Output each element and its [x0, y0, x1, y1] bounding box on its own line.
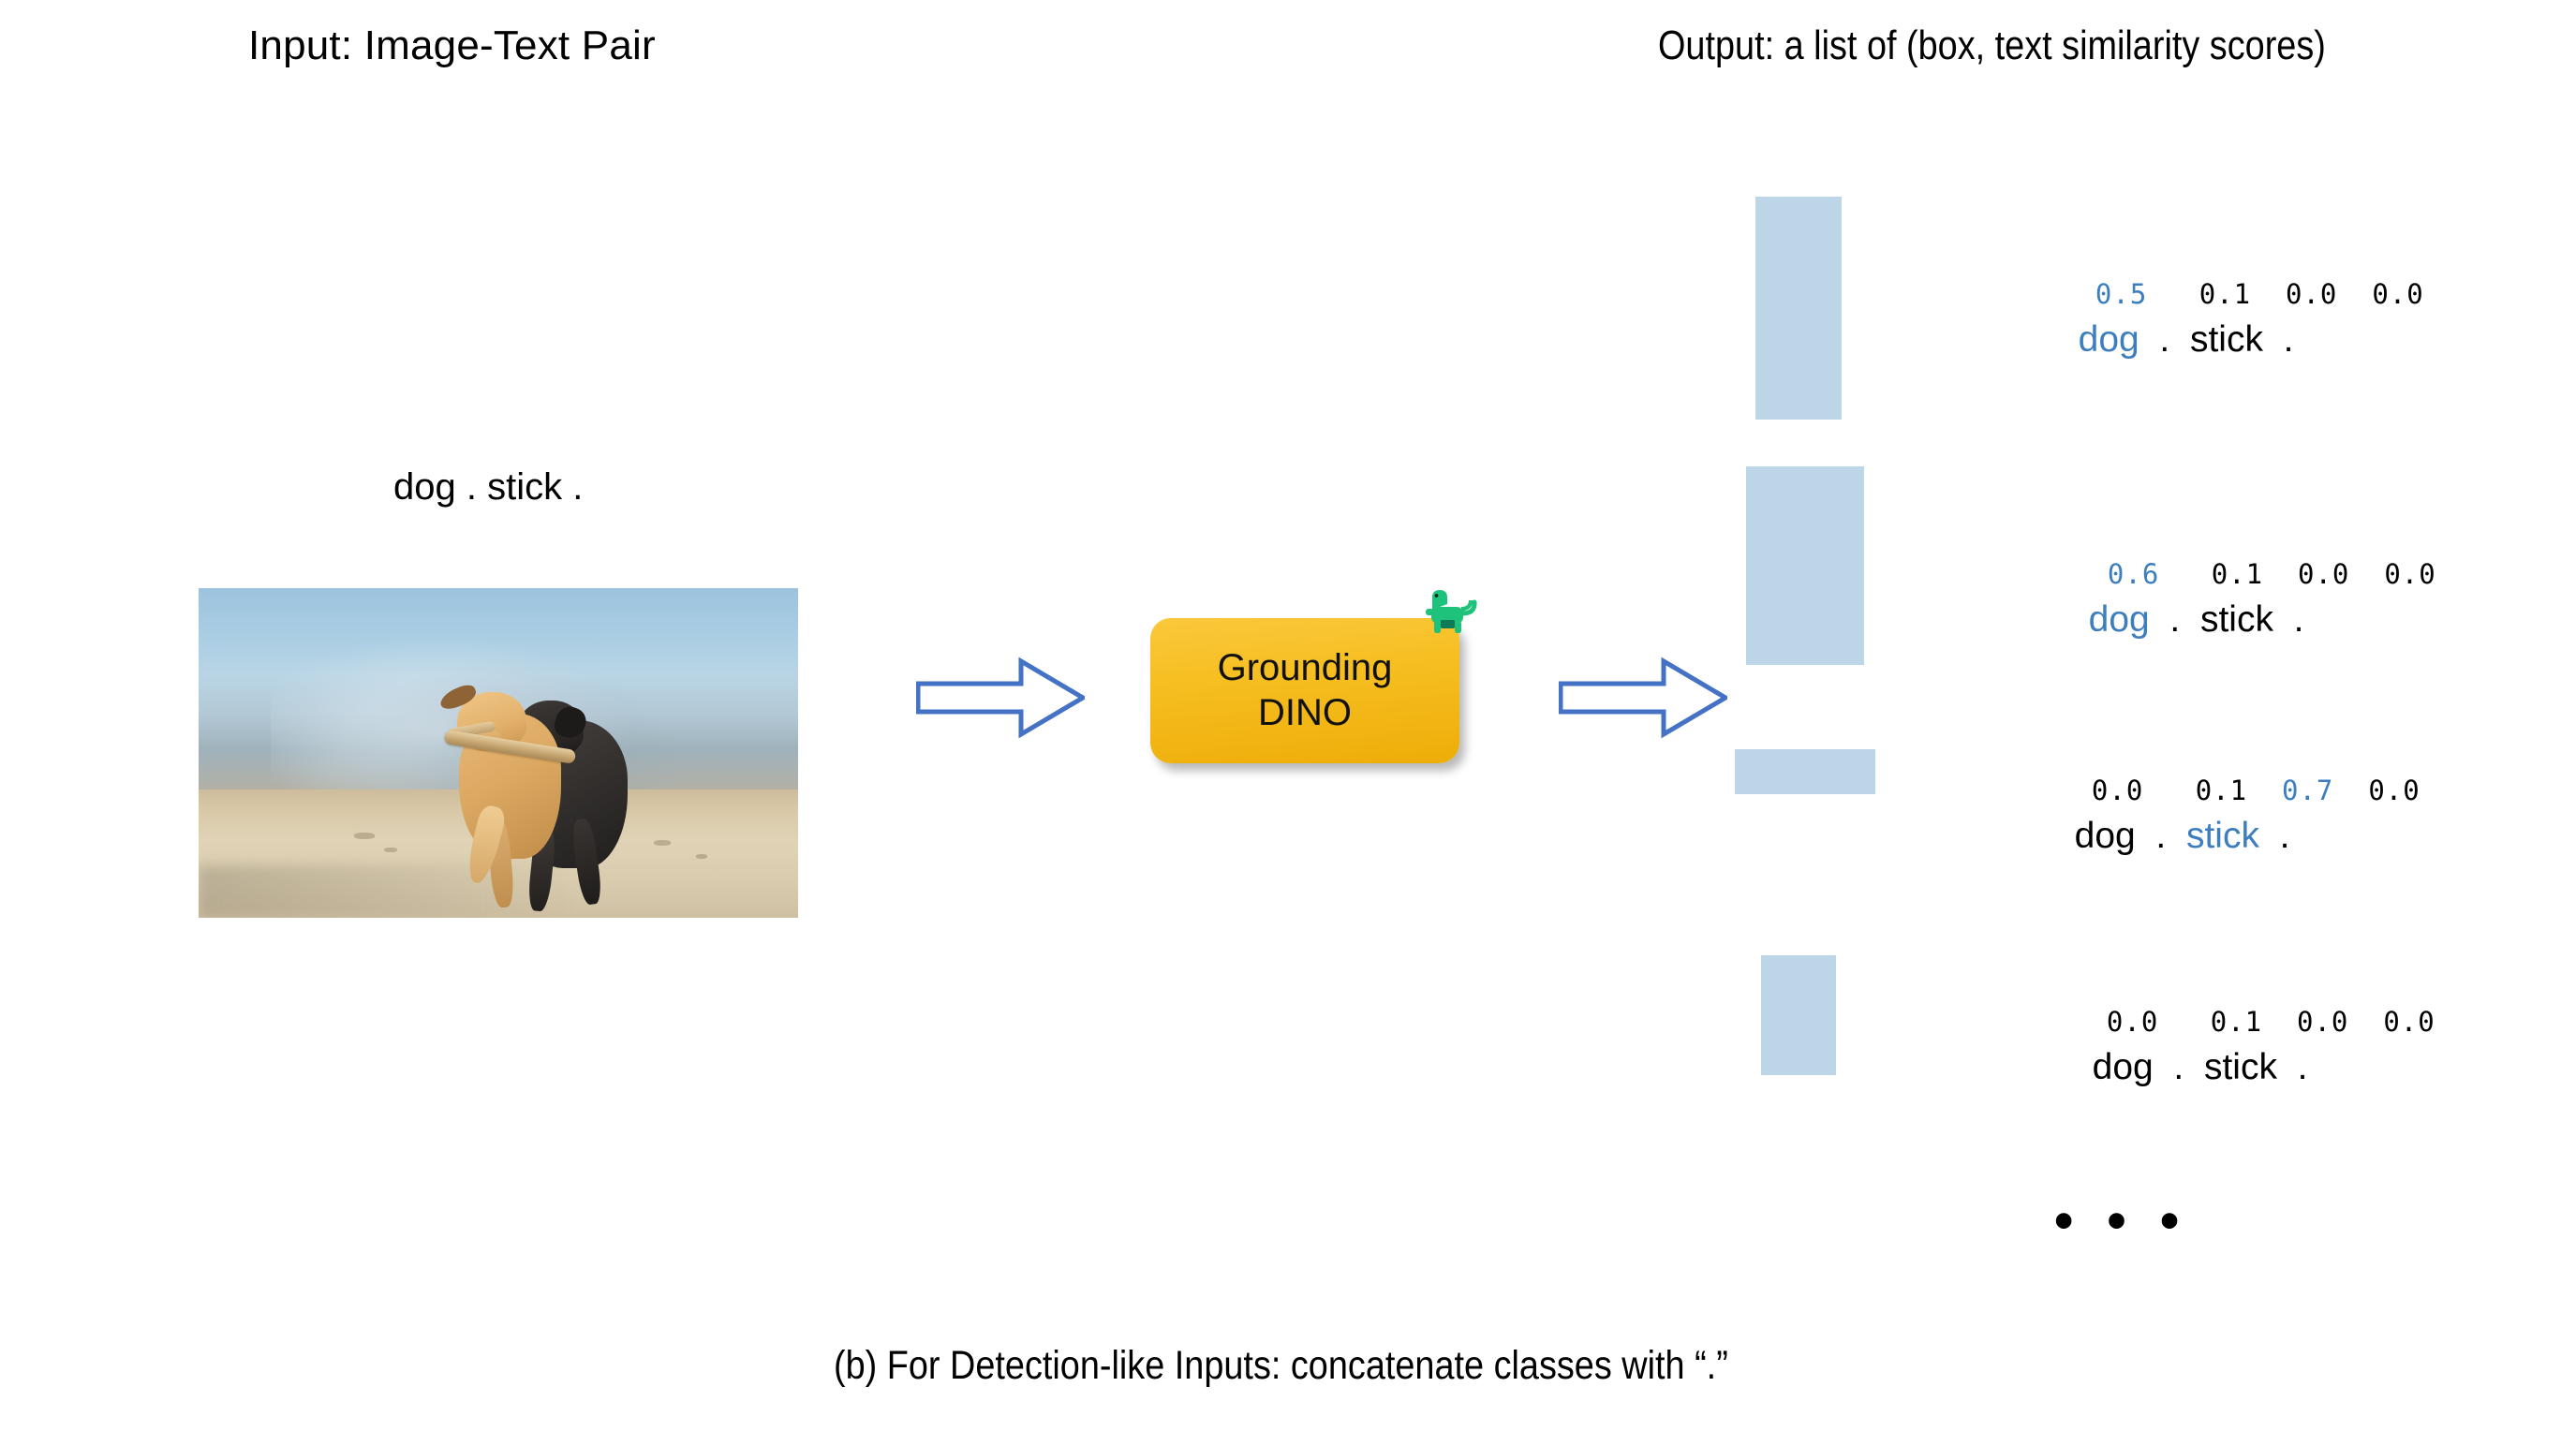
token-labels-row-4: dog . stick . [2072, 1006, 2307, 1088]
score-value: 0.0 [2298, 558, 2349, 590]
crop-stick [1735, 749, 1875, 794]
token-label: . [2173, 1047, 2184, 1087]
output-heading: Output: a list of (box, text similarity … [1658, 22, 2326, 69]
token-label: . [2298, 1047, 2308, 1087]
token-label: dog [2075, 816, 2136, 856]
sand-fleck [354, 833, 375, 839]
token-labels-row-3: dog . stick . [2054, 775, 2289, 857]
dinosaur-icon [1421, 585, 1479, 640]
score-value: 0.0 [2368, 775, 2420, 806]
model-title-line-2: DINO [1258, 691, 1352, 735]
sand-fleck [696, 854, 707, 859]
sand-fleck [654, 840, 671, 846]
score-value: 0.0 [2384, 558, 2435, 590]
grounding-dino-box[interactable]: Grounding DINO [1150, 618, 1459, 763]
crop-tan-dog [1755, 197, 1842, 420]
token-label: . [2159, 319, 2169, 360]
token-label: . [2155, 816, 2166, 856]
token-labels-row-2: dog . stick . [2068, 558, 2303, 641]
score-value: 0.0 [2372, 278, 2423, 310]
input-text-prompt: dog . stick . [393, 466, 583, 509]
token-label: . [2284, 319, 2294, 360]
token-label: stick [2190, 319, 2263, 360]
token-label: . [2169, 599, 2180, 640]
crop-dog-legs [1761, 955, 1836, 1075]
score-value: 0.0 [2383, 1006, 2435, 1038]
token-label: dog [2093, 1047, 2154, 1087]
token-label: stick [2200, 599, 2273, 640]
token-label: . [2280, 816, 2290, 856]
input-source-image [199, 588, 798, 918]
more-results-ellipsis: • • • [2054, 1189, 2188, 1252]
arrow-model-to-output [1559, 656, 1727, 740]
sand-shadow [199, 865, 570, 918]
crop-black-dog [1746, 466, 1864, 665]
figure-caption: (b) For Detection-like Inputs: concatena… [834, 1343, 1728, 1389]
token-label: dog [2079, 319, 2139, 360]
token-label: stick [2204, 1047, 2277, 1087]
beach-scene [199, 588, 798, 918]
token-label: . [2294, 599, 2304, 640]
token-label: dog [2089, 599, 2150, 640]
token-labels-row-1: dog . stick . [2058, 278, 2293, 361]
input-heading: Input: Image-Text Pair [248, 22, 656, 69]
arrow-input-to-model [916, 656, 1085, 740]
model-title-line-1: Grounding [1218, 646, 1393, 690]
token-label: stick [2186, 816, 2259, 856]
sand-fleck [384, 848, 397, 852]
